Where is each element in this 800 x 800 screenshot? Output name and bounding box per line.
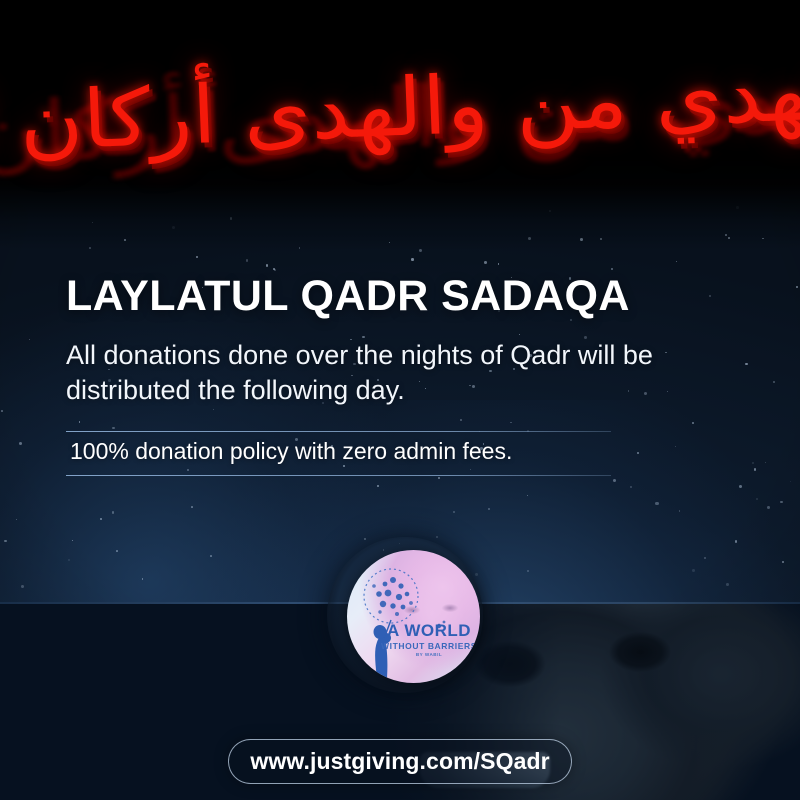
donation-policy-text: 100% donation policy with zero admin fee… xyxy=(70,438,512,465)
logo-line-2: WITHOUT BARRIERS xyxy=(381,641,477,651)
logo-line-3: BY WABIL xyxy=(381,652,477,657)
divider-top xyxy=(66,431,611,432)
poster-canvas: تهدي من والهدى أركان الهدى تهدي من والهد… xyxy=(0,0,800,800)
logo-line-1: A WORLD xyxy=(381,622,477,639)
donation-url-label: www.justgiving.com/SQadr xyxy=(250,748,549,775)
logo-wordmark: A WORLD WITHOUT BARRIERS BY WABIL xyxy=(381,622,477,657)
organisation-logo[interactable]: A WORLD WITHOUT BARRIERS BY WABIL xyxy=(347,550,480,683)
divider-bottom xyxy=(66,475,611,476)
subtitle-text: All donations done over the nights of Qa… xyxy=(66,338,726,408)
donation-url-button[interactable]: www.justgiving.com/SQadr xyxy=(228,739,572,784)
page-title: LAYLATUL QADR SADAQA xyxy=(66,272,630,321)
globe-balloon-child-icon xyxy=(347,550,480,683)
